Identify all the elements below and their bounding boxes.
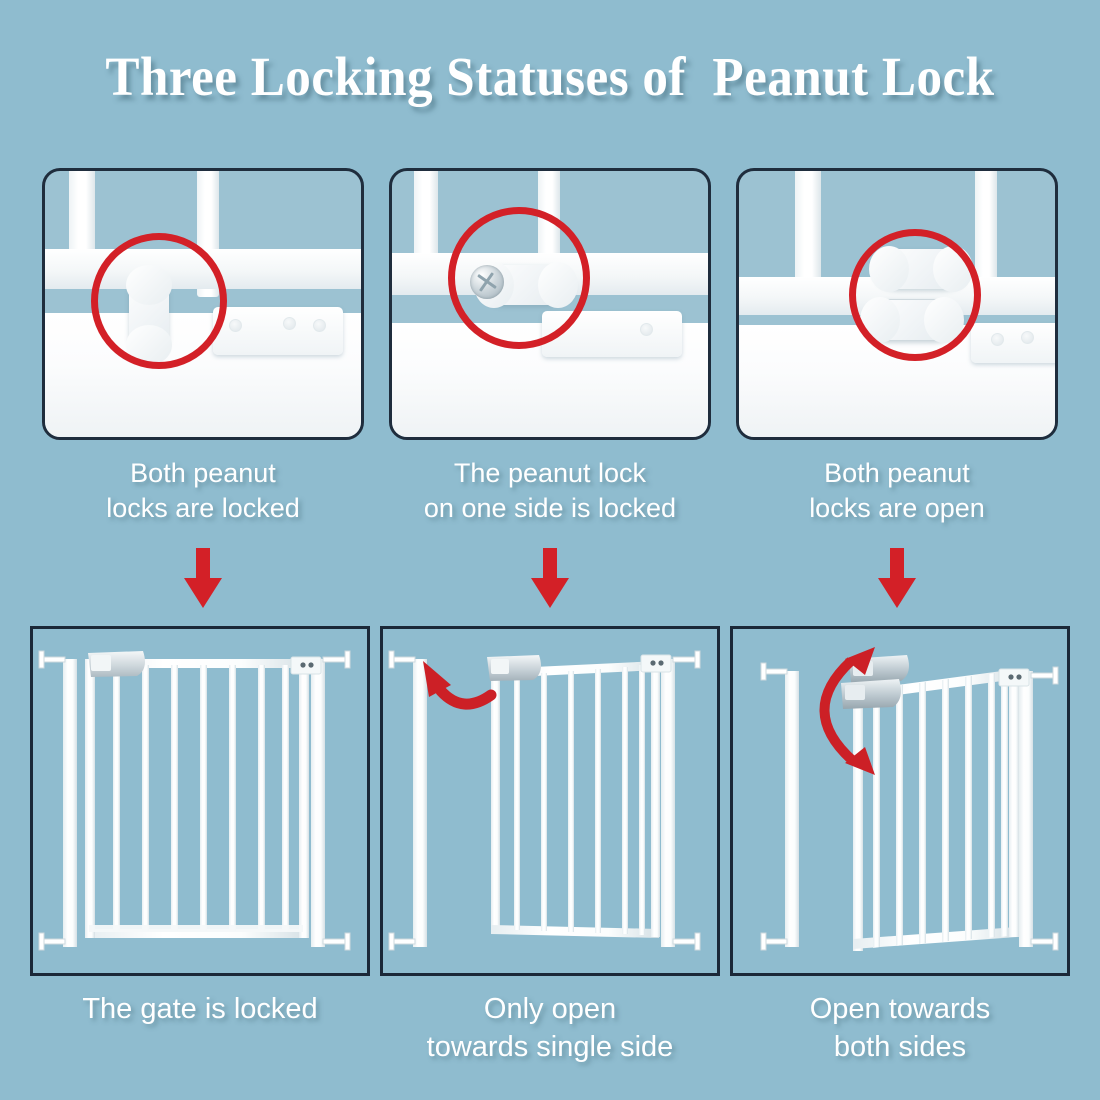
photo-scene	[45, 171, 361, 437]
gate-bars	[113, 665, 289, 931]
gate-status-single-side: Only open towards single side	[380, 626, 720, 1066]
gate-status-caption: The gate is locked	[82, 990, 317, 1028]
down-arrow-icon	[529, 548, 571, 610]
page-title: Three Locking Statuses of Peanut Lock	[39, 46, 1062, 108]
mount-bolt-bottom-left	[761, 933, 787, 950]
gate-diagram-both-sides	[730, 626, 1070, 976]
mount-bolt-top-left	[389, 651, 415, 668]
photo-scene	[392, 171, 708, 437]
gate-latch-handle	[88, 651, 145, 677]
photo-scene	[739, 171, 1055, 437]
gate-illustration-double-swing	[733, 629, 1067, 973]
down-arrow-icon	[876, 548, 918, 610]
gate-status-caption: Only open towards single side	[427, 990, 674, 1066]
lock-status-both-open: Both peanut locks are open	[732, 168, 1062, 526]
lock-status-one-side-locked: The peanut lock on one side is locked	[385, 168, 715, 526]
mount-bolt-bottom-right	[1031, 933, 1058, 950]
latch-screw-a	[640, 323, 653, 336]
gate-bars	[514, 665, 645, 935]
arrow-cell-2	[385, 548, 715, 610]
gate-diagram-locked	[30, 626, 370, 976]
red-highlight-circle	[849, 229, 981, 361]
gate-panel-open	[491, 661, 660, 938]
down-arrow-icon	[182, 548, 224, 610]
latch-screw-c	[313, 319, 326, 332]
lock-status-caption: Both peanut locks are locked	[106, 456, 300, 526]
mount-bolt-top-right	[323, 651, 350, 668]
gate-latch-receiver	[999, 669, 1029, 686]
mount-bolt-top-right	[673, 651, 700, 668]
latch-screw-b	[1021, 331, 1034, 344]
swing-arrow-single	[423, 661, 491, 704]
lock-photo-both-locked	[42, 168, 364, 440]
mount-bolt-top-left	[761, 663, 787, 680]
arrow-row	[0, 548, 1100, 610]
lock-photo-one-side-locked	[389, 168, 711, 440]
gate-latch-receiver	[641, 655, 671, 672]
gate-status-caption: Open towards both sides	[810, 990, 991, 1066]
gate-illustration-single-swing	[383, 629, 717, 973]
red-highlight-circle	[91, 233, 227, 369]
mount-bolt-bottom-left	[39, 933, 65, 950]
gate-latch-receiver	[291, 657, 321, 674]
latch-screw-a	[991, 333, 1004, 346]
latch-screw-b	[283, 317, 296, 330]
swing-arrow-double	[824, 647, 875, 775]
lock-status-row: Both peanut locks are locked The peanut …	[0, 168, 1100, 526]
lock-status-caption: The peanut lock on one side is locked	[424, 456, 676, 526]
mount-bolt-bottom-right	[673, 933, 700, 950]
latch-screw-a	[229, 319, 242, 332]
page-header: Three Locking Statuses of Peanut Lock	[0, 46, 1100, 108]
arrow-cell-1	[38, 548, 368, 610]
gate-panel-open-both	[853, 669, 1019, 951]
gate-status-row: The gate is locked	[0, 626, 1100, 1066]
gate-diagram-single-side	[380, 626, 720, 976]
latch-plate	[971, 323, 1058, 363]
red-highlight-circle	[448, 207, 590, 349]
gate-status-both-sides: Open towards both sides	[730, 626, 1070, 1066]
gate-illustration-closed	[33, 629, 367, 973]
mount-bolt-top-right	[1031, 667, 1058, 684]
lock-status-both-locked: Both peanut locks are locked	[38, 168, 368, 526]
mount-bolt-bottom-right	[323, 933, 350, 950]
gate-latch-handle	[487, 655, 541, 681]
lock-status-caption: Both peanut locks are open	[809, 456, 985, 526]
mount-bolt-bottom-left	[389, 933, 415, 950]
lock-photo-both-open	[736, 168, 1058, 440]
mount-bolt-top-left	[39, 651, 65, 668]
arrow-cell-3	[732, 548, 1062, 610]
gate-status-locked: The gate is locked	[30, 626, 370, 1066]
gate-bars	[873, 671, 1008, 948]
